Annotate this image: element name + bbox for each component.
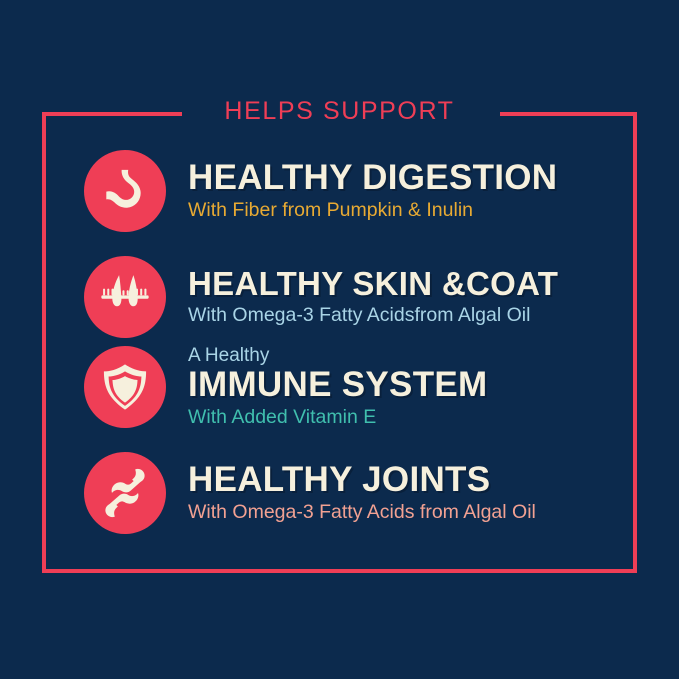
- benefit-row-digestion: HEALTHY DIGESTION With Fiber from Pumpki…: [84, 150, 624, 232]
- benefit-row-skin-coat: HEALTHY SKIN &COAT With Omega-3 Fatty Ac…: [84, 256, 624, 338]
- benefit-row-immune: A Healthy IMMUNE SYSTEM With Added Vitam…: [84, 346, 624, 428]
- benefit-subtitle: With Added Vitamin E: [188, 406, 624, 428]
- benefit-pretitle: A Healthy: [188, 346, 624, 366]
- hair-follicle-icon: [84, 256, 166, 338]
- shield-icon: [84, 346, 166, 428]
- bone-joint-icon: [84, 452, 166, 534]
- benefit-text: HEALTHY JOINTS With Omega-3 Fatty Acids …: [188, 462, 624, 523]
- benefit-row-joints: HEALTHY JOINTS With Omega-3 Fatty Acids …: [84, 452, 624, 534]
- benefit-title: IMMUNE SYSTEM: [188, 367, 624, 402]
- benefit-title: HEALTHY JOINTS: [188, 462, 624, 497]
- benefit-title: HEALTHY DIGESTION: [188, 160, 624, 195]
- benefit-title: HEALTHY SKIN &COAT: [188, 267, 624, 300]
- stomach-icon: [84, 150, 166, 232]
- benefit-subtitle: With Omega-3 Fatty Acids from Algal Oil: [188, 501, 624, 523]
- benefit-subtitle: With Omega-3 Fatty Acidsfrom Algal Oil: [188, 304, 624, 326]
- benefit-text: HEALTHY SKIN &COAT With Omega-3 Fatty Ac…: [188, 267, 624, 326]
- benefit-text: HEALTHY DIGESTION With Fiber from Pumpki…: [188, 160, 624, 221]
- helps-support-infographic: HELPS SUPPORT HEALTHY DIGESTION With Fib…: [0, 0, 679, 679]
- benefit-subtitle: With Fiber from Pumpkin & Inulin: [188, 199, 624, 221]
- benefit-text: A Healthy IMMUNE SYSTEM With Added Vitam…: [188, 346, 624, 428]
- benefit-list: HEALTHY DIGESTION With Fiber from Pumpki…: [0, 0, 679, 679]
